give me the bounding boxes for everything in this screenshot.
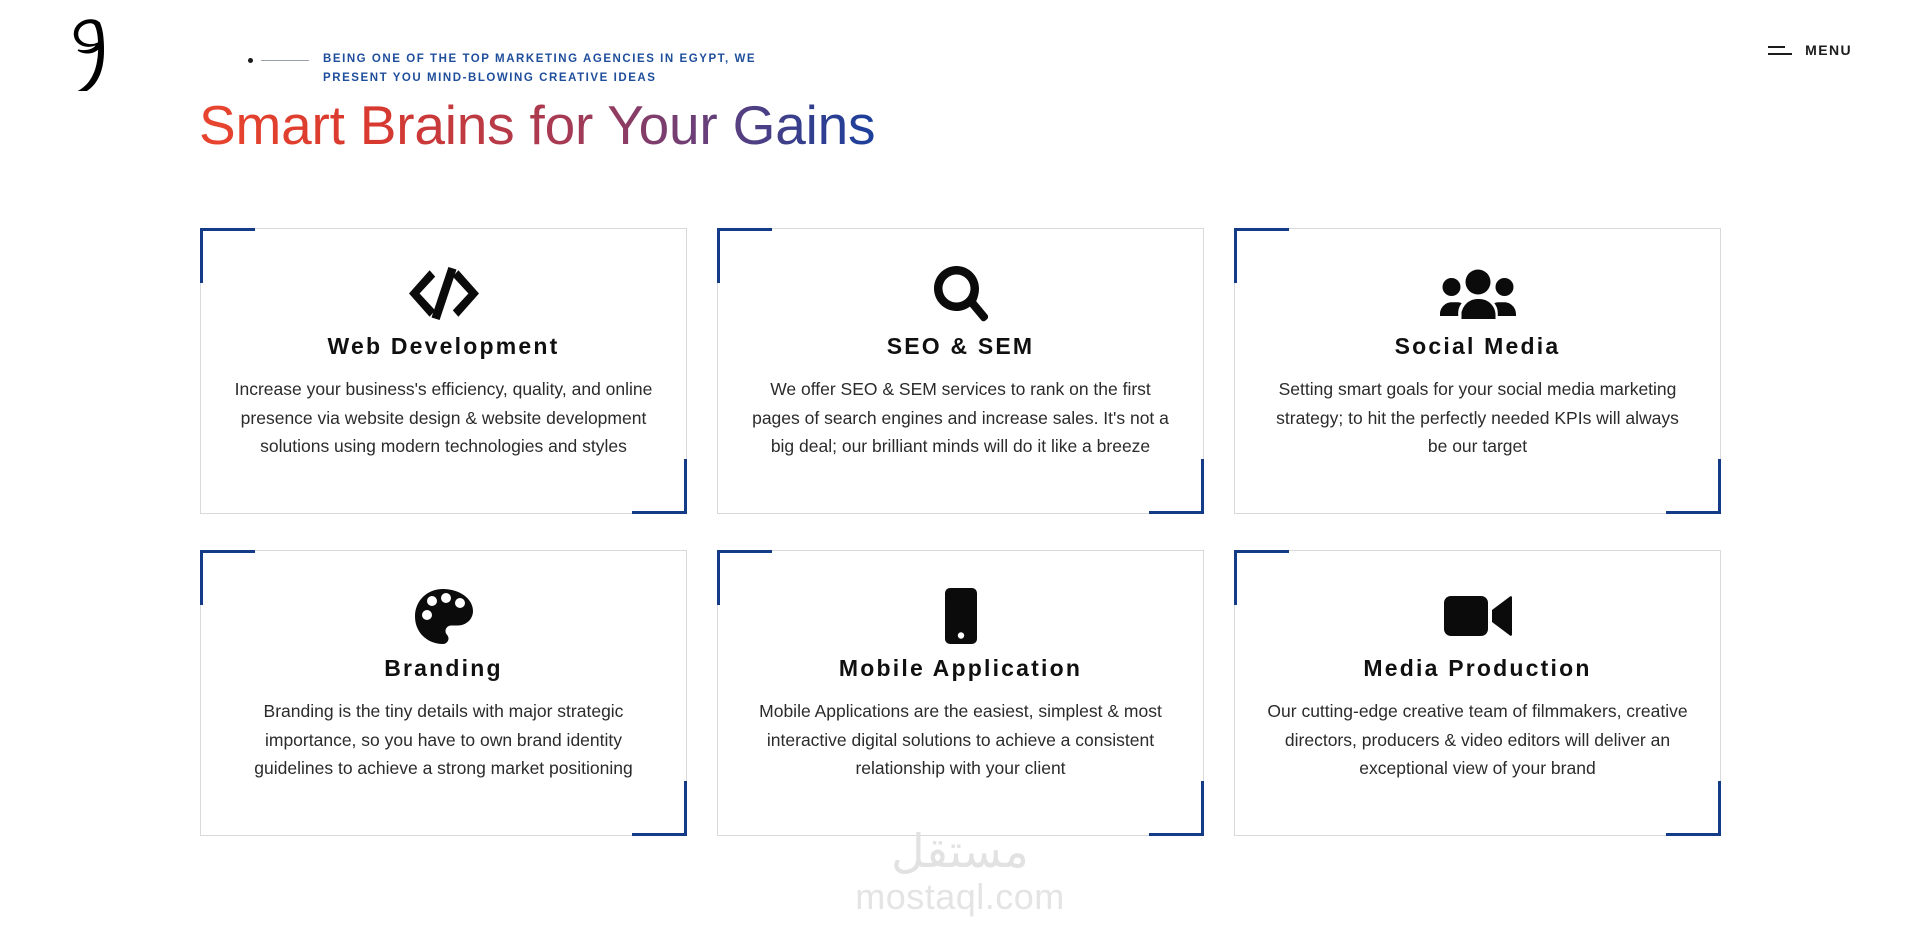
- service-card-mobile-application[interactable]: Mobile Application Mobile Applications a…: [717, 550, 1204, 836]
- service-card-title: SEO & SEM: [887, 333, 1035, 360]
- eyebrow-rule-divider: [261, 60, 309, 61]
- service-card-title: Social Media: [1395, 333, 1561, 360]
- users-icon: [1440, 263, 1516, 325]
- service-card-description: Branding is the tiny details with major …: [231, 697, 656, 783]
- hamburger-icon: [1768, 43, 1792, 57]
- search-icon: [934, 263, 988, 325]
- service-card-description: Mobile Applications are the easiest, sim…: [748, 697, 1173, 783]
- service-card-description: Increase your business's efficiency, qua…: [231, 375, 656, 461]
- page-root: BEING ONE OF THE TOP MARKETING AGENCIES …: [0, 0, 1920, 927]
- eyebrow-tagline: BEING ONE OF THE TOP MARKETING AGENCIES …: [248, 50, 823, 88]
- service-card-branding[interactable]: Branding Branding is the tiny details wi…: [200, 550, 687, 836]
- menu-button[interactable]: MENU: [1768, 42, 1852, 58]
- service-card-media-production[interactable]: Media Production Our cutting-edge creati…: [1234, 550, 1721, 836]
- services-grid: Web Development Increase your business's…: [200, 228, 1730, 836]
- service-card-social-media[interactable]: Social Media Setting smart goals for you…: [1234, 228, 1721, 514]
- service-card-web-development[interactable]: Web Development Increase your business's…: [200, 228, 687, 514]
- mostaql-watermark: مستقل mostaql.com: [810, 825, 1110, 917]
- arabic-ayn-logo[interactable]: [46, 10, 126, 98]
- service-card-description: We offer SEO & SEM services to rank on t…: [748, 375, 1173, 461]
- eyebrow-dot-icon: [248, 58, 253, 63]
- service-card-title: Web Development: [328, 333, 560, 360]
- code-icon: [409, 263, 479, 325]
- service-card-seo-sem[interactable]: SEO & SEM We offer SEO & SEM services to…: [717, 228, 1204, 514]
- site-header: BEING ONE OF THE TOP MARKETING AGENCIES …: [0, 0, 1920, 118]
- service-card-title: Media Production: [1363, 655, 1591, 682]
- eyebrow-text: BEING ONE OF THE TOP MARKETING AGENCIES …: [323, 50, 823, 88]
- mobile-icon: [945, 585, 977, 647]
- page-title: Smart Brains for Your Gains: [199, 95, 875, 156]
- service-card-description: Setting smart goals for your social medi…: [1265, 375, 1690, 461]
- service-card-title: Branding: [384, 655, 503, 682]
- menu-button-label: MENU: [1805, 42, 1852, 58]
- video-camera-icon: [1444, 585, 1512, 647]
- palette-icon: [415, 585, 473, 647]
- watermark-arabic-text: مستقل: [810, 825, 1110, 877]
- service-card-title: Mobile Application: [839, 655, 1082, 682]
- watermark-latin-text: mostaql.com: [810, 877, 1110, 917]
- service-card-description: Our cutting-edge creative team of filmma…: [1265, 697, 1690, 783]
